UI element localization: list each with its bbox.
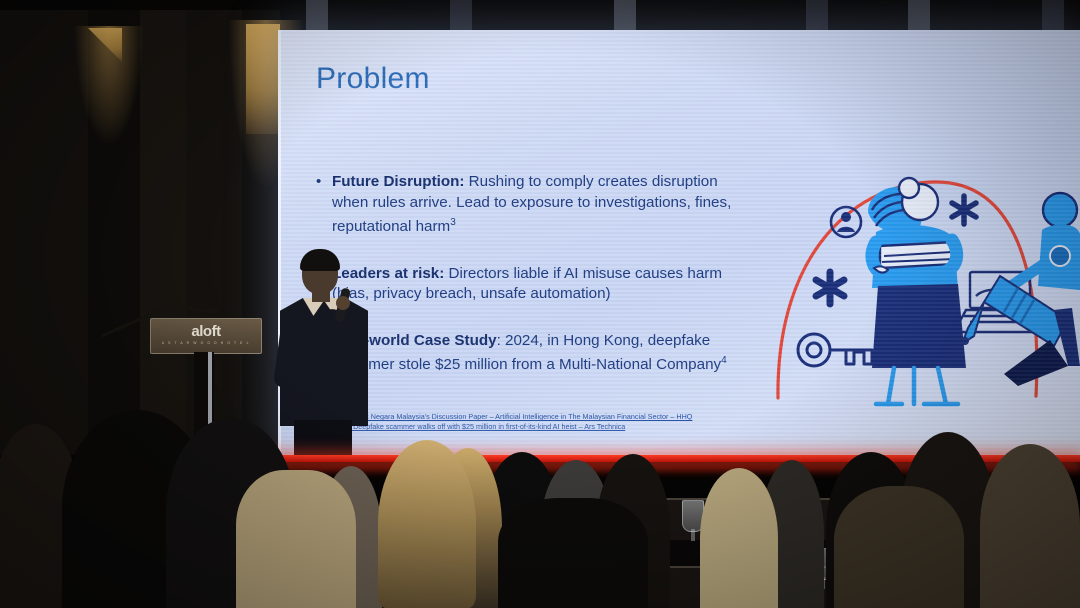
ceiling-strip: [806, 0, 828, 30]
audience-member: [980, 444, 1080, 608]
bullet-item-1: • Future Disruption: Rushing to comply c…: [316, 172, 736, 238]
presenter-hair: [300, 249, 340, 271]
footnote-ref: 4: [721, 355, 727, 366]
conference-room-photo: Problem • Future Disruption: Rushing to …: [0, 0, 1080, 608]
presenter-hand: [336, 296, 350, 310]
footnote-line: ⁴ Deepfake scammer walks off with $25 mi…: [348, 422, 768, 432]
slide-illustration: [768, 160, 1080, 410]
bullet-marker: •: [316, 172, 332, 238]
venue-logo-tagline: A S T A R W O O D H O T E L: [151, 341, 261, 345]
ceiling-strip: [1042, 0, 1064, 30]
person-with-pen-illustration: [961, 193, 1080, 386]
slide-bullet-list: • Future Disruption: Rushing to comply c…: [316, 172, 736, 402]
bullet-text: Leaders at risk: Directors liable if AI …: [332, 264, 736, 305]
projection-screen: Problem • Future Disruption: Rushing to …: [278, 30, 1080, 462]
footnote-line: ³ Bank Negara Malaysia's Discussion Pape…: [348, 412, 768, 422]
bullet-text: Real-world Case Study: 2024, in Hong Kon…: [332, 331, 736, 376]
bullet-item-3: Real-world Case Study: 2024, in Hong Kon…: [316, 331, 736, 376]
bullet-text: Future Disruption: Rushing to comply cre…: [332, 172, 736, 238]
venue-logo-name: aloft: [151, 323, 261, 340]
asterisk-icon: [816, 272, 844, 304]
footnote-ref: 3: [450, 217, 456, 228]
audience-member: [700, 468, 778, 608]
audience-member: [834, 486, 964, 608]
slide-title: Problem: [316, 62, 430, 96]
person-carrying-folders-illustration: [868, 178, 966, 404]
ceiling-strip: [450, 0, 472, 30]
slide-footnotes: ³ Bank Negara Malaysia's Discussion Pape…: [348, 412, 768, 432]
user-avatar-icon: [831, 207, 861, 237]
ceiling-strip: [908, 0, 930, 30]
bullet-lead: Future Disruption:: [332, 173, 464, 190]
bullet-item-2: Leaders at risk: Directors liable if AI …: [316, 264, 736, 305]
audience-member: [236, 470, 356, 608]
accent-light-glow: [74, 26, 144, 146]
ceiling-strip: [306, 0, 328, 30]
asterisk-icon: [952, 196, 976, 224]
lectern-sign: aloft A S T A R W O O D H O T E L: [150, 318, 262, 354]
ceiling-strip: [614, 0, 636, 30]
venue-logo: aloft A S T A R W O O D H O T E L: [151, 323, 261, 345]
audience-member: [498, 498, 648, 608]
key-icon: [798, 334, 872, 366]
audience-member: [378, 440, 476, 608]
